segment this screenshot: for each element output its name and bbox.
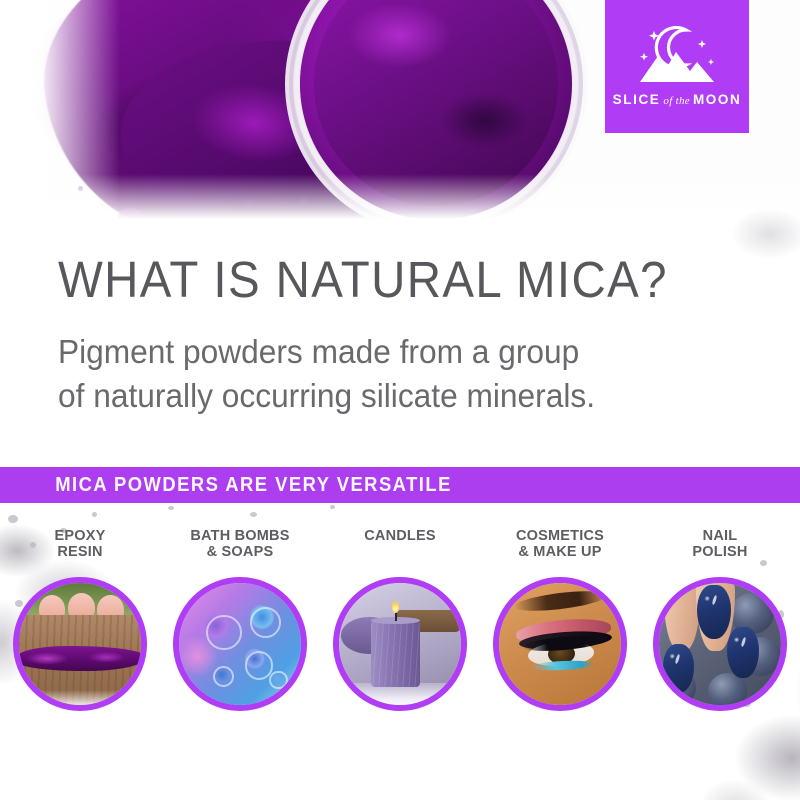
category-thumbnail-nail-polish[interactable] bbox=[653, 577, 787, 711]
eye-makeup-photo bbox=[499, 583, 621, 705]
versatile-banner: MICA POWDERS ARE VERY VERSATILE bbox=[0, 467, 800, 503]
category-bath-bombs-soaps[interactable]: BATH BOMBS & SOAPS bbox=[160, 528, 320, 711]
subtitle-line-2: of naturally occurring silicate minerals… bbox=[58, 374, 730, 418]
category-label: EPOXY RESIN bbox=[55, 528, 106, 564]
infographic-page: SLICE of the MOON WHAT IS NATURAL MICA? … bbox=[0, 0, 800, 800]
grey-fleck bbox=[330, 505, 335, 509]
category-label-line-1: BATH BOMBS bbox=[190, 528, 289, 544]
category-thumbnail-epoxy-resin[interactable] bbox=[13, 577, 147, 711]
category-thumbnail-candles[interactable] bbox=[333, 577, 467, 711]
crescent-moon-mountains-icon bbox=[634, 26, 720, 88]
category-label-line-2: & SOAPS bbox=[190, 544, 289, 560]
category-label-line-1: NAIL bbox=[692, 528, 747, 544]
category-cosmetics-makeup[interactable]: COSMETICS & MAKE UP bbox=[480, 528, 640, 711]
grey-fleck bbox=[168, 506, 174, 510]
epoxy-resin-photo bbox=[19, 583, 141, 705]
wordmark-slice: SLICE bbox=[613, 92, 661, 107]
category-label: COSMETICS & MAKE UP bbox=[516, 528, 604, 564]
brand-wordmark: SLICE of the MOON bbox=[613, 92, 742, 107]
category-candles[interactable]: CANDLES bbox=[320, 528, 480, 711]
candle-photo bbox=[339, 583, 461, 705]
wordmark-ofthe: of the bbox=[660, 95, 693, 107]
category-label-line-2: RESIN bbox=[55, 544, 106, 560]
category-label: CANDLES bbox=[364, 528, 436, 564]
category-label-line-1: EPOXY bbox=[55, 528, 106, 544]
banner-text: MICA POWDERS ARE VERY VERSATILE bbox=[0, 474, 452, 497]
category-thumbnail-bath-bombs-soaps[interactable] bbox=[173, 577, 307, 711]
category-label-line-1: CANDLES bbox=[364, 528, 436, 544]
category-epoxy-resin[interactable]: EPOXY RESIN bbox=[0, 528, 160, 711]
grey-fleck bbox=[92, 512, 97, 517]
wordmark-moon: MOON bbox=[693, 92, 741, 107]
grey-fleck bbox=[250, 512, 257, 517]
category-label: NAIL POLISH bbox=[692, 528, 747, 564]
category-row: EPOXY RESIN BATH BOMBS & SOAPS bbox=[0, 528, 800, 738]
category-label-line-2: & MAKE UP bbox=[516, 544, 604, 560]
category-label: BATH BOMBS & SOAPS bbox=[190, 528, 289, 564]
page-title: WHAT IS NATURAL MICA? bbox=[58, 252, 709, 308]
category-thumbnail-cosmetics-makeup[interactable] bbox=[493, 577, 627, 711]
page-subtitle: Pigment powders made from a group of nat… bbox=[58, 330, 730, 418]
subtitle-line-1: Pigment powders made from a group bbox=[58, 330, 730, 374]
brand-logo[interactable]: SLICE of the MOON bbox=[605, 0, 749, 133]
grey-fleck bbox=[8, 515, 18, 523]
bath-bomb-photo bbox=[179, 583, 301, 705]
category-label-line-1: COSMETICS bbox=[516, 528, 604, 544]
category-nail-polish[interactable]: NAIL POLISH bbox=[640, 528, 800, 711]
nail-polish-photo bbox=[659, 583, 781, 705]
category-label-line-2: POLISH bbox=[692, 544, 747, 560]
